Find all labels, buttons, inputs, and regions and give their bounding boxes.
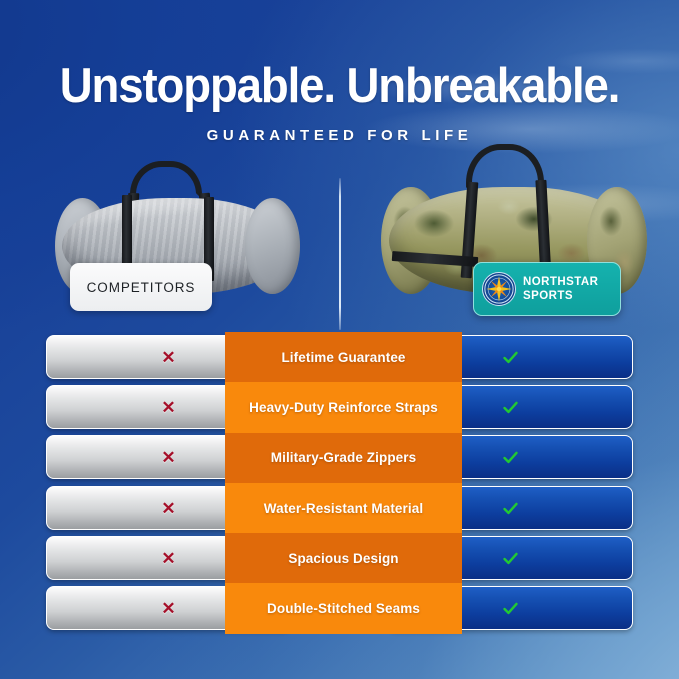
cross-icon: ✕: [161, 349, 175, 366]
cross-icon: ✕: [161, 449, 175, 466]
check-icon: [502, 399, 519, 416]
check-icon: [502, 550, 519, 567]
check-icon: [502, 349, 519, 366]
feature-label: Water-Resistant Material: [225, 483, 462, 533]
comparison-table: ✕ ✕ ✕ ✕ ✕: [0, 0, 679, 679]
feature-label: Spacious Design: [225, 533, 462, 583]
feature-column: Lifetime Guarantee Heavy-Duty Reinforce …: [225, 332, 462, 634]
check-icon: [502, 500, 519, 517]
feature-label: Heavy-Duty Reinforce Straps: [225, 382, 462, 432]
feature-label: Lifetime Guarantee: [225, 332, 462, 382]
cross-icon: ✕: [161, 600, 175, 617]
cross-icon: ✕: [161, 550, 175, 567]
check-icon: [502, 449, 519, 466]
feature-label: Double-Stitched Seams: [225, 583, 462, 633]
cross-icon: ✕: [161, 500, 175, 517]
check-icon: [502, 600, 519, 617]
feature-label: Military-Grade Zippers: [225, 433, 462, 483]
cross-icon: ✕: [161, 399, 175, 416]
